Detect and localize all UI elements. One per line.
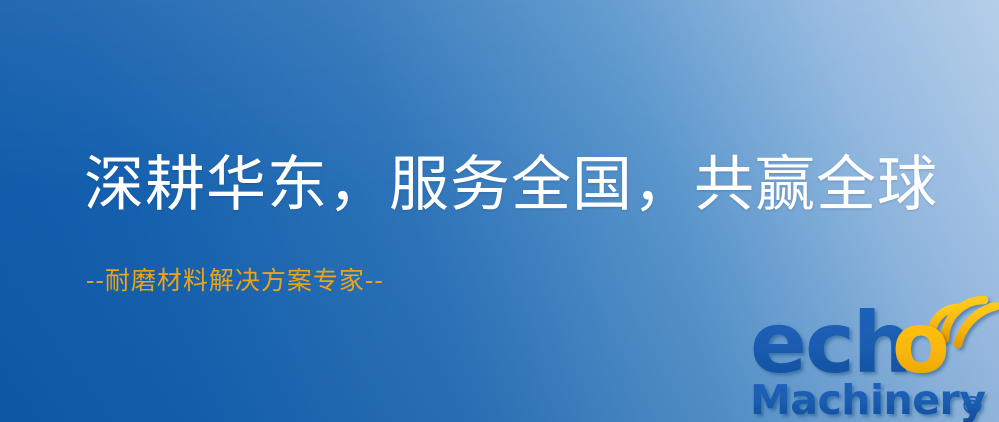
brand-logo[interactable]: ech o Machinery ®	[746, 288, 999, 422]
hero-banner: 深耕华东，服务全国，共赢全球 --耐磨材料解决方案专家--	[0, 0, 999, 422]
page-title: 深耕华东，服务全国，共赢全球	[84, 152, 938, 219]
page-subtitle: --耐磨材料解决方案专家--	[86, 266, 384, 296]
logo-registered-mark: ®	[960, 391, 985, 420]
logo-tagline-machinery: Machinery	[750, 376, 985, 422]
